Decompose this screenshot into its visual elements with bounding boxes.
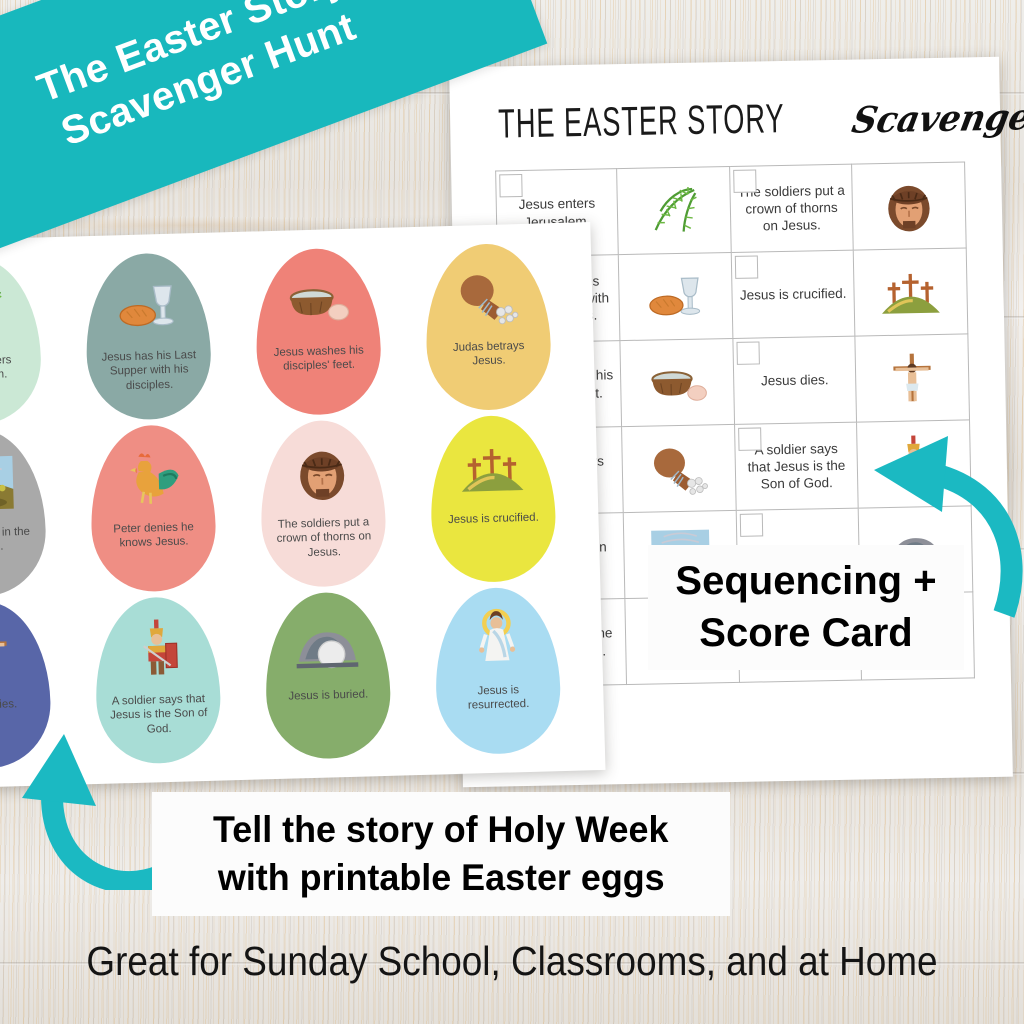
scorecard-checkbox-cell: Jesus is crucified. [732, 250, 855, 338]
sequencing-score-card-callout: Sequencing + Score Card [648, 545, 964, 670]
palm-branch-image [0, 271, 12, 351]
egg-card[interactable]: Jesus prays in the garden. [0, 428, 47, 597]
egg-card[interactable]: Judas betrays Jesus. [424, 242, 553, 411]
egg-card[interactable]: Jesus enters Jerusalem. [0, 256, 43, 425]
egg-card-caption: Jesus washes his disciples' feet. [257, 343, 382, 375]
egg-card-cell: Jesus is resurrected. [410, 582, 585, 759]
egg-card[interactable]: Jesus is crucified. [429, 414, 558, 583]
checkbox[interactable] [737, 341, 760, 364]
egg-card-cell: Jesus prays in the garden. [0, 425, 70, 602]
egg-card-cell: Peter denies he knows Jesus. [66, 420, 241, 597]
checkbox[interactable] [499, 174, 522, 197]
jesus-crown-of-thorns-image [851, 162, 966, 250]
egg-card-cell: Jesus is crucified. [406, 411, 581, 588]
checkbox[interactable] [735, 255, 758, 278]
jesus-on-cross-image [0, 615, 21, 695]
sequencing-callout-line-2: Score Card [699, 608, 912, 659]
scorecard-checkbox-cell: The soldiers put a crown of thorns on Je… [730, 164, 853, 252]
scorecard-event-label: Jesus dies. [761, 372, 829, 388]
bag-of-silver-coins-image [453, 257, 521, 337]
scorecard-event-label: Jesus is crucified. [740, 286, 847, 303]
sequencing-callout-line-1: Sequencing + [675, 556, 936, 607]
scorecard-title-script: Scavenger Hunt [849, 94, 1024, 142]
jesus-crown-of-thorns-image [288, 434, 356, 514]
jesus-praying-garden-image [0, 443, 16, 523]
scorecard-checkbox-cell: Jesus dies. [733, 336, 856, 424]
egg-card-caption: Jesus prays in the garden. [0, 524, 46, 556]
egg-card-caption: The soldiers put a crown of thorns on Je… [261, 515, 386, 562]
tell-callout-line-1: Tell the story of Holy Week [213, 806, 668, 854]
basin-and-sponge-image [620, 338, 735, 426]
scorecard-title: THE EASTER STORY Scavenger Hunt [498, 97, 975, 148]
egg-card-cell: Jesus has his Last Supper with his disci… [61, 248, 236, 425]
bag-of-silver-coins-image [622, 424, 737, 512]
egg-card[interactable]: Peter denies he knows Jesus. [89, 424, 218, 593]
checkbox[interactable] [739, 427, 762, 450]
basin-and-sponge-image [283, 262, 351, 342]
rooster-image [118, 438, 186, 518]
bread-and-chalice-image [113, 267, 181, 347]
three-crosses-hill-image [458, 429, 526, 509]
scorecard-title-plain: THE EASTER STORY [498, 96, 785, 148]
scorecard-event-label: A soldier says that Jesus is the Son of … [748, 441, 846, 492]
scorecard-checkbox-cell: A soldier says that Jesus is the Son of … [735, 422, 858, 510]
risen-jesus-image [463, 601, 531, 681]
egg-card-caption: Jesus is crucified. [439, 510, 548, 528]
egg-card-caption: Judas betrays Jesus. [426, 338, 551, 370]
egg-card-caption: Jesus has his Last Supper with his disci… [87, 348, 212, 395]
jesus-on-cross-image [855, 334, 970, 422]
egg-card-cell: Jesus is buried. [240, 587, 415, 764]
tell-the-story-callout: Tell the story of Holy Week with printab… [152, 792, 730, 916]
roman-soldier-image [123, 610, 191, 690]
egg-card[interactable]: Jesus washes his disciples' feet. [254, 247, 383, 416]
three-crosses-hill-image [853, 248, 968, 336]
egg-card[interactable]: Jesus is resurrected. [433, 586, 562, 755]
egg-card-cell: Jesus enters Jerusalem. [0, 253, 66, 430]
checkbox[interactable] [740, 513, 763, 536]
bread-and-chalice-image [619, 252, 734, 340]
egg-card[interactable]: Jesus has his Last Supper with his disci… [84, 252, 213, 421]
egg-card-cell: Jesus washes his disciples' feet. [231, 243, 406, 420]
bottom-tagline: Great for Sunday School, Classrooms, and… [51, 938, 973, 985]
egg-card-caption: Jesus enters Jerusalem. [0, 352, 41, 384]
egg-card-caption: Jesus is buried. [279, 687, 377, 704]
checkbox[interactable] [734, 169, 757, 192]
tell-callout-line-2: with printable Easter eggs [218, 854, 665, 902]
egg-card[interactable]: The soldiers put a crown of thorns on Je… [259, 419, 388, 588]
egg-card-caption: Jesus is resurrected. [436, 682, 561, 714]
egg-card[interactable]: Jesus is buried. [263, 591, 392, 760]
egg-card-cell: The soldiers put a crown of thorns on Je… [236, 415, 411, 592]
palm-branch-image [617, 166, 732, 254]
egg-card-cell: Judas betrays Jesus. [401, 239, 576, 416]
tomb-with-stone-image [293, 606, 361, 686]
egg-card-caption: Peter denies he knows Jesus. [91, 520, 216, 552]
promo-mockup: THE EASTER STORY Scavenger Hunt Jesus en… [0, 0, 1024, 1024]
